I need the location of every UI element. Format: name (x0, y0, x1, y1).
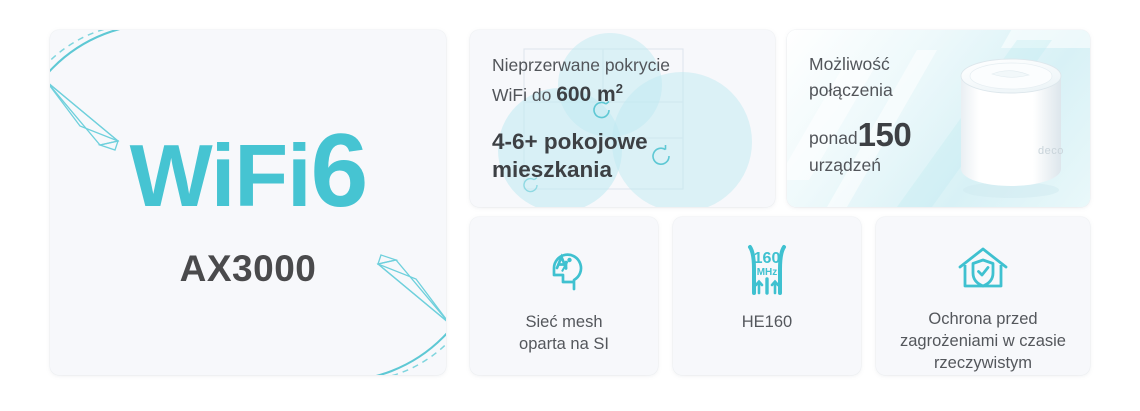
devices-count-row: ponad150 (809, 116, 911, 154)
feature-label-line-3: rzeczywistym (900, 353, 1066, 375)
feature-label: Ochrona przed zagrożeniami w czasie rzec… (892, 309, 1074, 375)
feature-label-line-2: zagrożeniami w czasie (900, 331, 1066, 353)
feature-label-line-2: oparta na SI (519, 334, 609, 356)
coverage-area-superscript: 2 (616, 81, 623, 96)
devices-card: deco Możliwość połączenia ponad150 urząd… (787, 30, 1090, 207)
coverage-card: Nieprzerwane pokrycie WiFi do 600 m2 4-6… (470, 30, 775, 207)
coverage-line-1: Nieprzerwane pokrycie (492, 52, 761, 79)
devices-count-prefix: ponad (809, 128, 858, 148)
feature-label: Sieć mesh oparta na SI (511, 312, 617, 356)
feature-card-ai-mesh: Sieć mesh oparta na SI (470, 217, 658, 375)
icon-text-top: 160 (754, 250, 781, 267)
promo-banner: WiFi6 AX3000 (0, 0, 1140, 411)
router-illustration: deco (948, 50, 1074, 200)
icon-text-bottom: MHz (757, 267, 778, 278)
devices-line-2: połączenia (809, 78, 911, 104)
home-shield-check-icon (955, 241, 1011, 296)
feature-card-threat-protection: Ochrona przed zagrożeniami w czasie rzec… (876, 217, 1090, 375)
feature-label-line-1: HE160 (742, 312, 792, 334)
coverage-headline-line-1: 4-6+ pokojowe (492, 128, 761, 157)
hero-card: WiFi6 AX3000 (50, 30, 446, 375)
coverage-headline: 4-6+ pokojowe mieszkania (492, 128, 761, 186)
devices-count-value: 150 (858, 116, 912, 153)
wifi-wordmark: WiFi6 (50, 124, 446, 220)
devices-line-1: Możliwość (809, 52, 911, 78)
feature-card-he160: 160 MHz HE160 (673, 217, 861, 375)
coverage-headline-line-2: mieszkania (492, 156, 761, 185)
feature-label-line-1: Sieć mesh (519, 312, 609, 334)
bandwidth-160mhz-icon: 160 MHz (739, 241, 795, 299)
coverage-area-value: 600 m (556, 83, 616, 106)
ai-head-icon (538, 241, 590, 299)
product-model: AX3000 (50, 248, 446, 290)
coverage-line-2-prefix: WiFi do (492, 85, 556, 105)
deco-router-image: deco (948, 50, 1074, 200)
devices-line-4: urządzeń (809, 154, 911, 177)
devices-text-block: Możliwość połączenia ponad150 urządzeń (809, 52, 911, 177)
wifi-label: WiFi (130, 126, 311, 225)
feature-label: HE160 (734, 312, 800, 334)
wifi-generation: 6 (311, 113, 367, 229)
coverage-text-block: Nieprzerwane pokrycie WiFi do 600 m2 4-6… (492, 52, 761, 185)
router-brand-label: deco (1038, 145, 1064, 157)
hero-text-block: WiFi6 AX3000 (50, 124, 446, 290)
feature-label-line-1: Ochrona przed (900, 309, 1066, 331)
coverage-line-2: WiFi do 600 m2 (492, 79, 761, 111)
